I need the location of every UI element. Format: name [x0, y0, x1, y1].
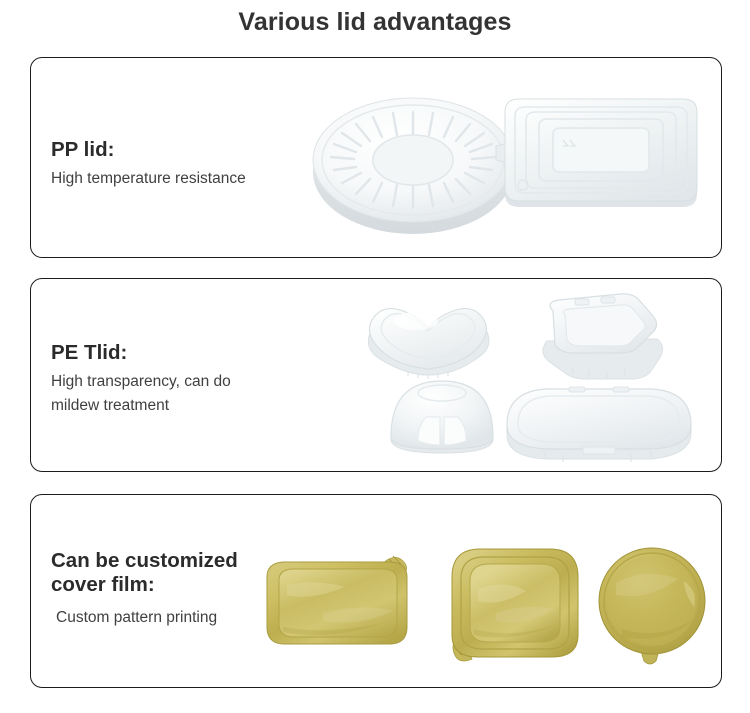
rectangular-gold-cover-film-image [263, 547, 415, 657]
rectangular-pp-lid-image [493, 84, 708, 234]
heart-pe-lid-image [356, 287, 501, 379]
card-cover-film: Can be customized cover film: Custom pat… [30, 494, 722, 688]
round-pp-lid-image [309, 80, 524, 240]
card-pe-lid-heading: PE Tlid: [51, 341, 231, 365]
card-pp-lid: PP lid: High temperature resistance [30, 57, 722, 258]
card-pp-lid-text: PP lid: High temperature resistance [51, 138, 246, 191]
round-gold-cover-film-image [588, 543, 716, 665]
page-title: Various lid advantages [0, 8, 750, 37]
card-cover-film-text: Can be customized cover film: Custom pat… [51, 549, 238, 630]
square-pe-lid-image [529, 289, 665, 381]
card-pp-lid-subtitle: High temperature resistance [51, 167, 246, 191]
card-cover-film-heading: Can be customized cover film: [51, 549, 238, 597]
oval-pe-lid-image [501, 381, 697, 463]
card-pp-lid-heading: PP lid: [51, 138, 246, 162]
square-gold-cover-film-image [446, 543, 586, 665]
card-pe-lid-text: PE Tlid: High transparency, can do milde… [51, 341, 231, 418]
card-pe-lid: PE Tlid: High transparency, can do milde… [30, 278, 722, 472]
card-cover-film-subtitle: Custom pattern printing [51, 606, 238, 630]
dome-pe-lid-image [386, 375, 498, 463]
card-pe-lid-subtitle: High transparency, can do mildew treatme… [51, 370, 231, 418]
